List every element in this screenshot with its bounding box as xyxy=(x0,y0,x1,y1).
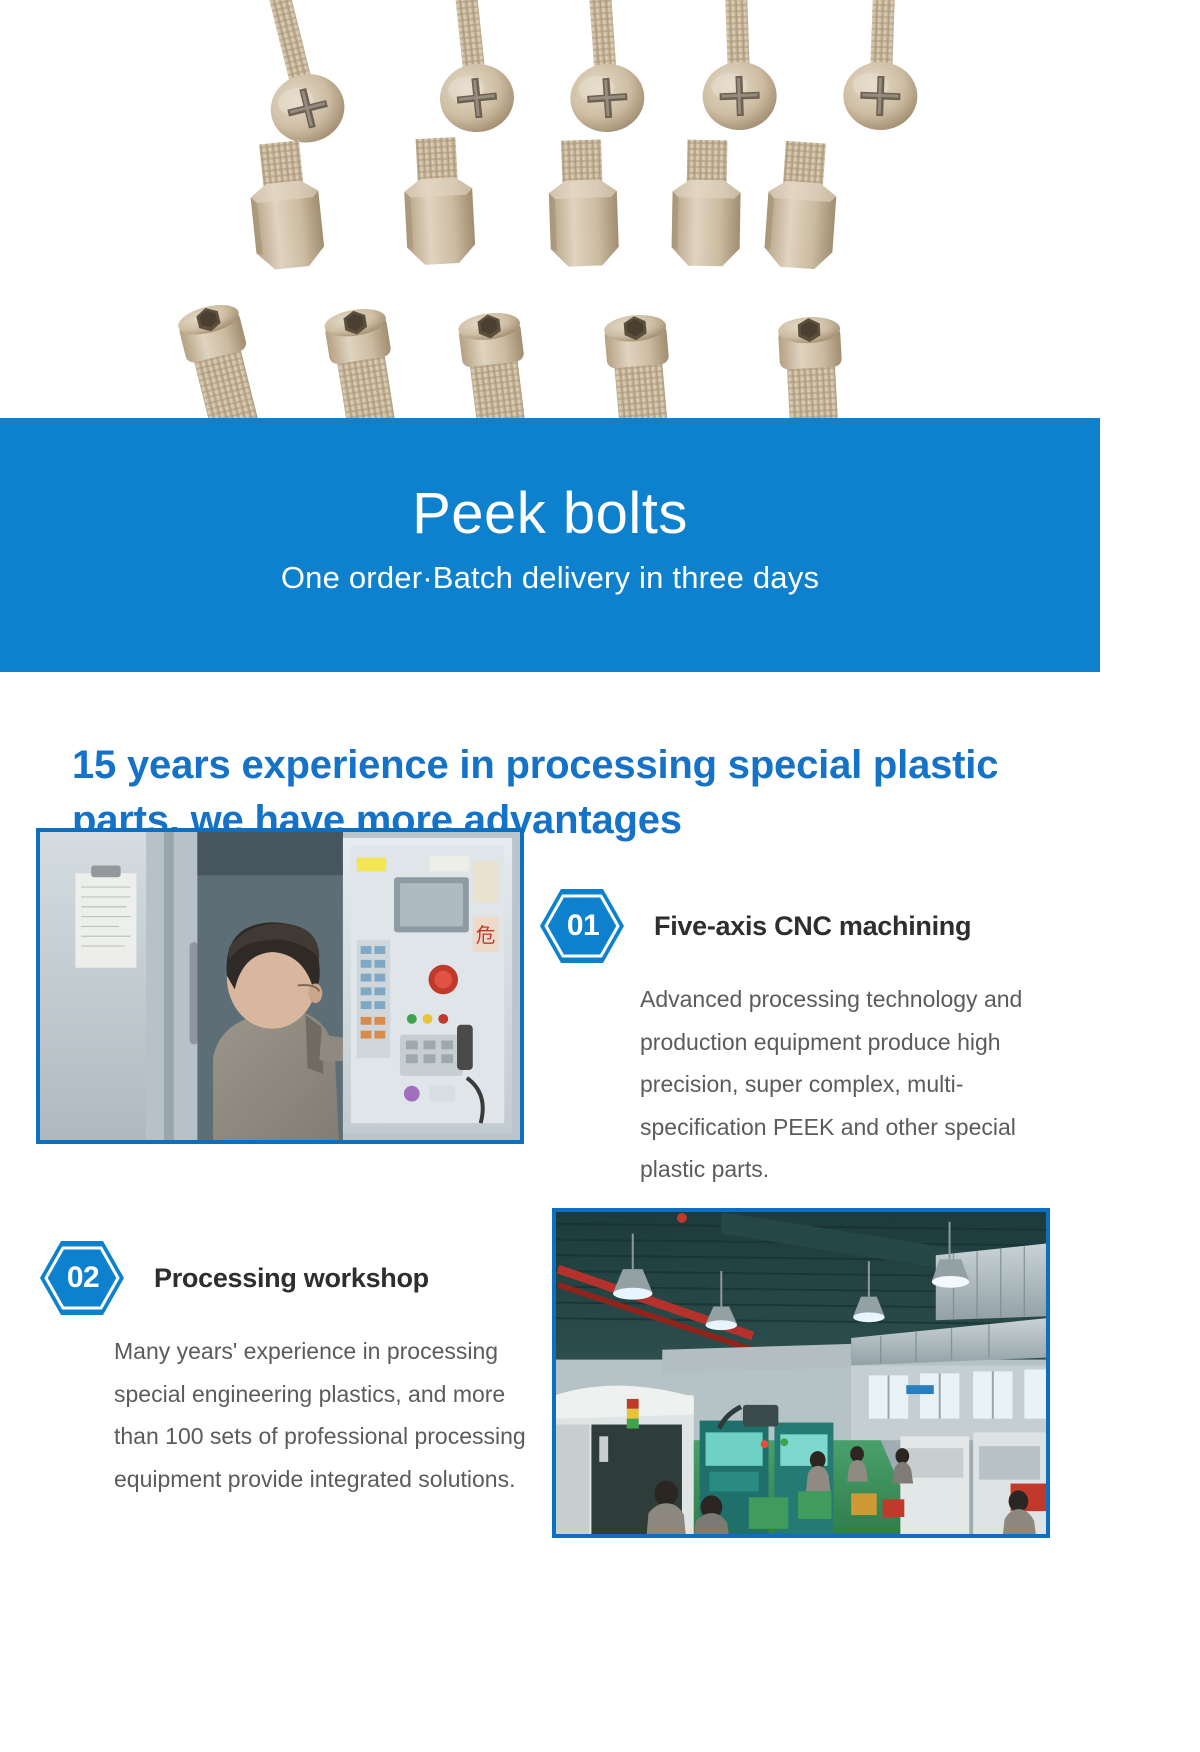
feature-01-header: 01 Five-axis CNC machining xyxy=(536,884,1076,968)
feature-01-number: 01 xyxy=(536,884,628,968)
bolt-row-phillips xyxy=(202,0,928,150)
hero-product-image xyxy=(0,0,1200,420)
feature-02-header: 02 Processing workshop xyxy=(36,1236,536,1320)
factory-workshop-illustration xyxy=(556,1212,1046,1537)
workshop-photo xyxy=(552,1208,1050,1538)
feature-02-title: Processing workshop xyxy=(154,1263,429,1294)
feature-block-02: 02 Processing workshop Many years' exper… xyxy=(36,1236,536,1500)
feature-02-body: Many years' experience in processing spe… xyxy=(36,1330,536,1500)
hexagon-badge-icon: 01 xyxy=(536,884,628,968)
hexagon-badge-icon: 02 xyxy=(36,1236,128,1320)
feature-02-number: 02 xyxy=(36,1236,128,1320)
feature-01-body: Advanced processing technology and produ… xyxy=(536,978,1076,1191)
cnc-operator-illustration: 危 xyxy=(40,832,520,1143)
banner-title: Peek bolts xyxy=(412,482,688,546)
bolt-row-socket xyxy=(175,300,846,420)
cnc-machining-photo: 危 xyxy=(36,828,524,1144)
svg-text:危: 危 xyxy=(476,924,496,947)
bolt-row-hex xyxy=(245,136,840,271)
title-banner: Peek bolts One order·Batch delivery in t… xyxy=(0,418,1100,672)
feature-01-title: Five-axis CNC machining xyxy=(654,911,971,942)
feature-block-01: 01 Five-axis CNC machining Advanced proc… xyxy=(536,884,1076,1191)
banner-subtitle: One order·Batch delivery in three days xyxy=(281,560,819,596)
peek-bolts-illustration xyxy=(0,0,1200,420)
